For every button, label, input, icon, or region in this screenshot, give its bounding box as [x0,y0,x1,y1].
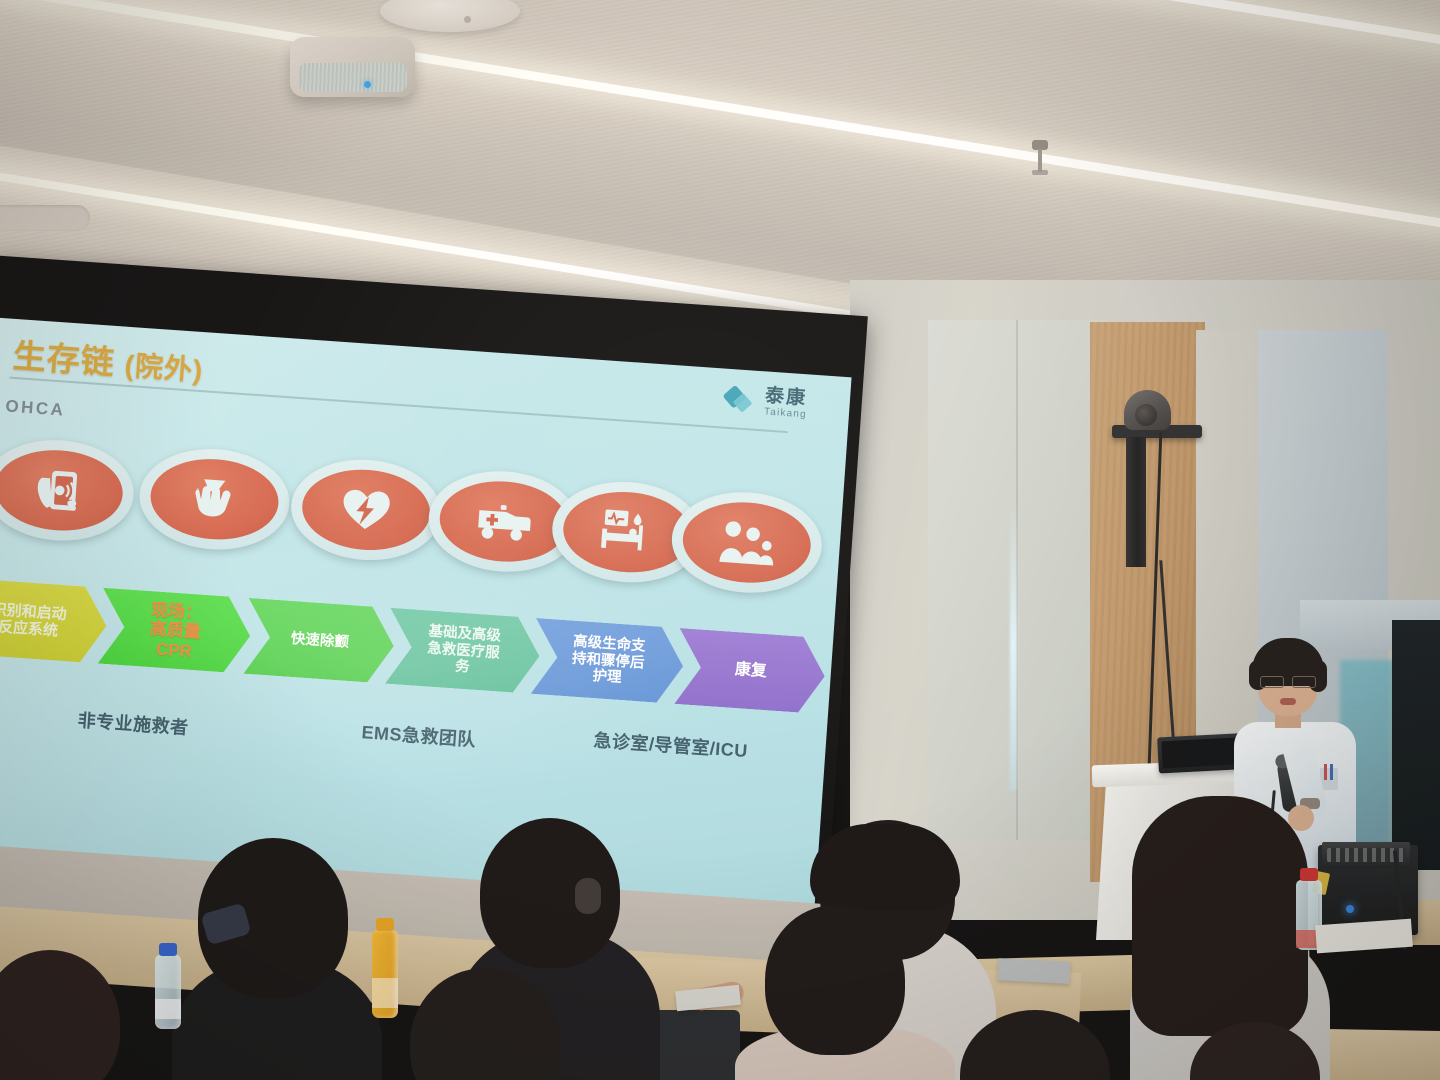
ohca-label: OHCA [5,396,66,420]
pen-red [1324,764,1327,780]
footer-label-1: 非专业施救者 [77,706,190,740]
phone-call-icon [0,446,125,535]
presenter-mouth [1280,698,1296,705]
chain-link-2 [136,444,293,554]
audience-7-head [0,950,120,1080]
bottle-cap-orange [376,918,394,931]
audience-member-7 [0,950,140,1080]
audience-3-curly-hair [810,824,960,910]
presentation-slide: 生存链 (院外) 泰康 Taikang OHCA [0,317,852,906]
chevron-step-6: 康复 [674,628,827,714]
audience-8-head [960,1010,1110,1080]
audience-member-1 [170,838,380,1080]
cpr-hands-glyph [182,472,247,526]
conference-room-photo: 生存链 (院外) 泰康 Taikang OHCA [0,0,1440,1080]
audience-member-6 [380,968,600,1080]
audience-member-8 [940,1010,1140,1080]
chevron-step-3: 快速除颤 [243,598,396,684]
sprinkler-head-icon [1032,140,1048,150]
ptz-camera-icon [1124,390,1171,430]
bottle-label [155,999,181,1019]
slide-title-main: 生存链 [12,337,116,381]
chevron-step-2: 现场：高质量CPR [98,588,253,674]
slide-title-paren: (院外) [124,350,205,386]
title-divider [9,377,787,433]
ambulance-glyph [471,494,536,548]
tablet-device [997,958,1070,984]
pen-blue [1330,764,1333,780]
heart-bolt-glyph [333,483,398,537]
power-led-indicator [1346,905,1354,913]
chevron-step-1: 识别和启动反应系统 [0,577,109,664]
audience-6-head [410,968,560,1080]
chain-link-3 [288,455,445,565]
audience-4-long-hair [1132,796,1308,1036]
chevron-step-5-label: 高级生命支持和骤停后护理 [570,634,646,689]
dark-window-panel [1392,620,1440,870]
cpr-hands-icon [148,455,281,544]
audience-member-9 [1180,1022,1330,1080]
chevron-step-5: 高级生命支持和骤停后护理 [531,618,686,704]
diamond-logo-icon [725,383,759,417]
speaker-status-led [364,81,371,88]
ceiling-speaker-icon [290,37,415,97]
chain-link-1 [0,435,137,545]
audience-9-head [1190,1022,1320,1080]
chevron-step-1-label: 识别和启动反应系统 [0,601,67,641]
phone-call-glyph [26,463,91,517]
juice-bottle [372,930,398,1018]
panel-light-reflection [1010,500,1017,790]
logo-english: Taikang [764,407,807,420]
audience-2-ear [575,878,601,914]
footer-label-3: 急诊室/导管室/ICU [593,726,749,763]
bed-monitor-glyph [595,505,660,559]
family-group-glyph [714,515,779,569]
juice-bottle-label [372,978,398,1008]
logo-chinese: 泰康 [765,386,809,408]
family-recovery-icon [680,498,813,587]
glasses-icon [1260,676,1316,686]
wall-partition-panel [928,320,1108,840]
ambulance-icon [437,477,570,566]
audience-5-head [765,905,905,1055]
papers-on-desk [1315,919,1413,954]
chevron-step-3-label: 快速除颤 [290,631,349,652]
survival-chain-icons [0,429,824,599]
heart-defibrillation-icon [300,465,433,554]
chevron-step-4: 基础及高级急救医疗服务 [385,608,542,694]
air-vent [0,205,90,231]
slide-title: 生存链 (院外) [12,329,206,390]
camera-mount-post [1126,437,1146,567]
chevron-step-6-label: 康复 [734,661,767,682]
chain-link-6 [668,487,825,597]
taikang-logo: 泰康 Taikang [725,383,809,421]
bottle-cap-blue [159,943,177,956]
chevron-step-4-label: 基础及高级急救医疗服务 [426,624,502,679]
water-bottle [155,955,181,1029]
footer-label-2: EMS急救团队 [361,718,477,752]
speaker-grille [298,63,407,92]
chevron-step-2-label: 现场：高质量CPR [148,600,203,662]
audience-member-5 [735,905,950,1080]
bottle-cap-red [1300,868,1318,881]
logo-text: 泰康 Taikang [764,386,809,420]
